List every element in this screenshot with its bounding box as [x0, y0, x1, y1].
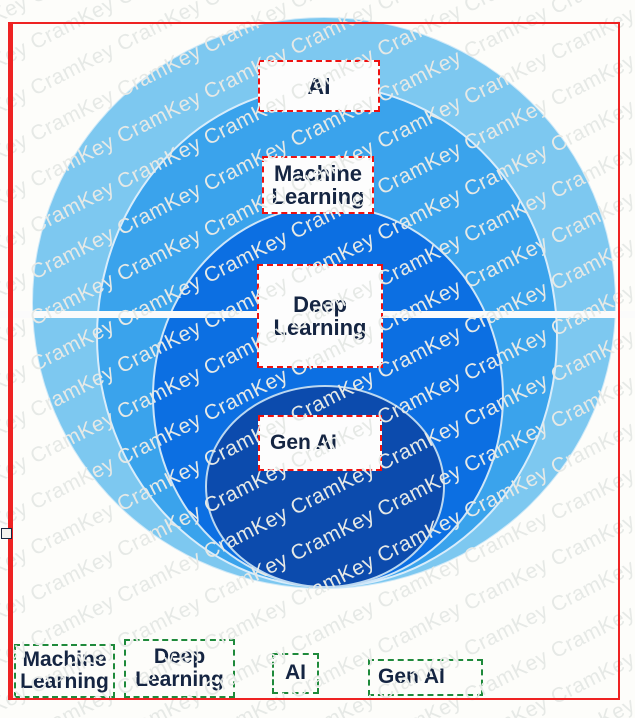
callout-dl-line2: Learning: [274, 315, 367, 340]
legend-item-gen-ai[interactable]: Gen AI: [368, 659, 483, 696]
legend-gen-label: Gen AI: [378, 666, 445, 688]
callout-ai-label: AI: [308, 74, 331, 98]
legend-dl-text: Deep Learning: [135, 646, 224, 690]
callout-ai[interactable]: AI: [258, 60, 380, 112]
legend-dl-line2: Learning: [135, 668, 224, 691]
legend-ml-line2: Learning: [20, 670, 109, 693]
legend-ml-text: Machine Learning: [20, 649, 109, 693]
callout-deep-learning[interactable]: Deep Learning: [257, 264, 383, 368]
legend-ai-label: AI: [285, 662, 306, 684]
callout-ml-line2: Learning: [272, 184, 365, 209]
callout-gen-label: Gen AI: [270, 432, 337, 454]
callout-gen-ai[interactable]: Gen AI: [258, 415, 382, 471]
legend-item-ai[interactable]: AI: [272, 653, 319, 694]
callout-dl-text: Deep Learning: [274, 293, 367, 339]
callout-ml-line1: Machine: [274, 161, 362, 186]
legend-item-deep-learning[interactable]: Deep Learning: [124, 639, 235, 698]
callout-dl-line1: Deep: [293, 292, 347, 317]
legend-item-machine-learning[interactable]: Machine Learning: [14, 644, 115, 698]
legend-row: Machine Learning Deep Learning AI Gen AI: [0, 636, 635, 702]
legend-dl-line1: Deep: [154, 645, 205, 668]
selection-handle-left[interactable]: [1, 528, 12, 539]
legend-ml-line1: Machine: [22, 648, 106, 671]
selection-frame-left-edge[interactable]: [9, 24, 13, 700]
diagram-canvas: AI Machine Learning Deep Learning Gen AI…: [0, 0, 635, 718]
callout-ml-text: Machine Learning: [272, 162, 365, 208]
callout-machine-learning[interactable]: Machine Learning: [262, 156, 374, 214]
